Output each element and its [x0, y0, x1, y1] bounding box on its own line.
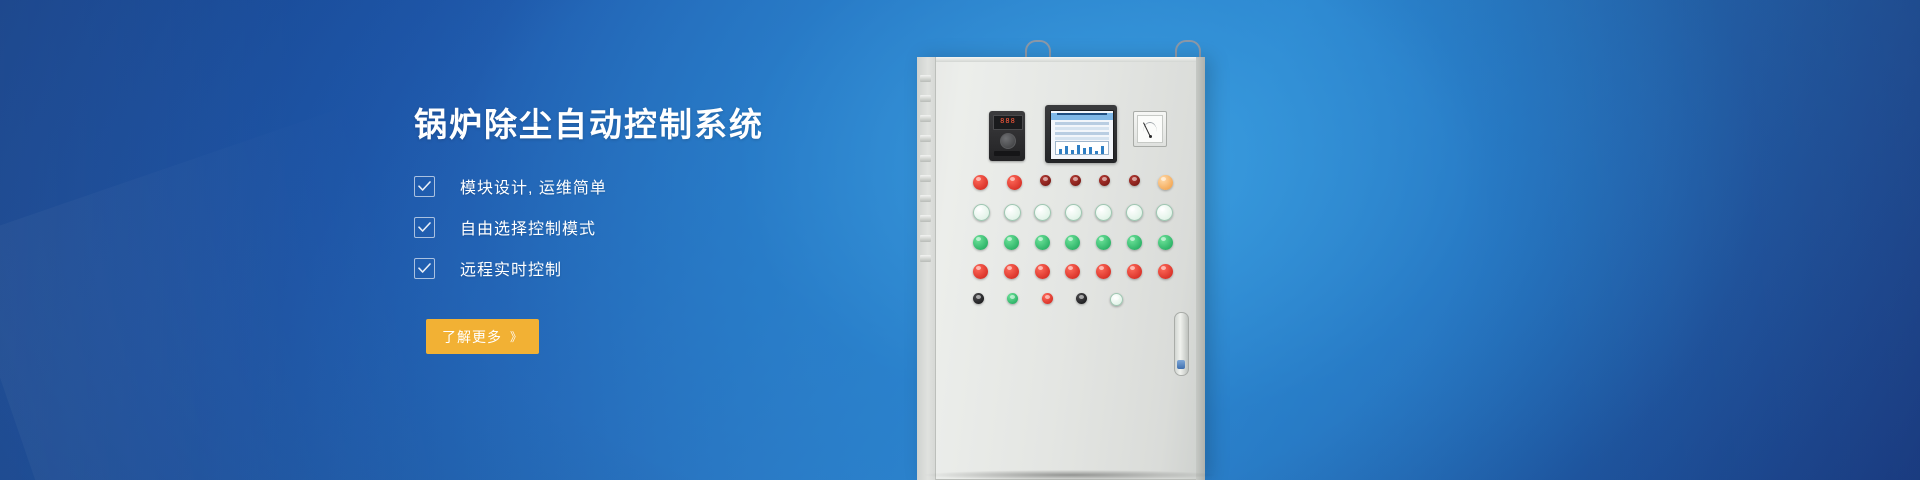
indicator-lamp-white[interactable]: [1065, 204, 1082, 221]
hmi-screen: [1050, 110, 1114, 160]
indicator-lamp-white[interactable]: [1004, 204, 1021, 221]
indicator-lamp-red[interactable]: [1158, 264, 1173, 279]
cabinet-hinge-strip: [917, 57, 936, 480]
hinge: [920, 195, 931, 202]
indicator-lamp-grid: [973, 175, 1173, 320]
learn-more-label: 了解更多: [442, 327, 502, 347]
check-icon: [414, 176, 435, 197]
indicator-lamp-red-dark[interactable]: [1099, 175, 1110, 186]
hinge: [920, 155, 931, 162]
indicator-lamp-red-dark[interactable]: [1129, 175, 1140, 186]
lamp-row: [973, 293, 1123, 306]
indicator-lamp-white[interactable]: [1095, 204, 1112, 221]
gauge-face: [1137, 115, 1163, 143]
hmi-row: [1055, 132, 1109, 135]
feature-label: 远程实时控制: [460, 256, 562, 280]
hinge: [920, 135, 931, 142]
push-button-black[interactable]: [1076, 293, 1087, 304]
learn-more-button[interactable]: 了解更多 》: [426, 319, 539, 354]
chevron-right-icon: 》: [510, 328, 523, 345]
check-icon: [414, 258, 435, 279]
controller-strip: [994, 151, 1020, 156]
cabinet-top-bevel: [917, 57, 1205, 62]
feature-label: 模块设计, 运维简单: [460, 174, 607, 198]
push-button-black[interactable]: [973, 293, 984, 304]
digital-controller[interactable]: 888: [989, 111, 1025, 161]
lamp-row: [973, 204, 1173, 221]
indicator-lamp-white[interactable]: [1126, 204, 1143, 221]
controller-display: 888: [993, 115, 1023, 130]
hinge: [920, 115, 931, 122]
indicator-lamp-red[interactable]: [1096, 264, 1111, 279]
indicator-lamp-red-dark[interactable]: [1070, 175, 1081, 186]
hinge: [920, 235, 931, 242]
list-item: 远程实时控制: [414, 256, 934, 280]
hmi-titlebar: [1051, 113, 1113, 120]
indicator-lamp-red[interactable]: [1127, 264, 1142, 279]
list-item: 自由选择控制模式: [414, 215, 934, 239]
hmi-row: [1055, 122, 1109, 125]
indicator-lamp-red[interactable]: [1007, 175, 1022, 190]
lamp-row: [973, 235, 1173, 250]
lamp-row: [973, 264, 1173, 279]
controller-knob-icon[interactable]: [1000, 133, 1016, 149]
indicator-lamp-white[interactable]: [973, 204, 990, 221]
product-photo: 888: [905, 0, 1465, 480]
indicator-lamp-white[interactable]: [1156, 204, 1173, 221]
indicator-lamp-red[interactable]: [973, 175, 988, 190]
gauge-pivot: [1149, 135, 1152, 138]
lock-icon[interactable]: [1177, 360, 1185, 369]
push-button-white[interactable]: [1110, 293, 1123, 306]
indicator-lamp-green[interactable]: [1065, 235, 1080, 250]
feature-label: 自由选择控制模式: [460, 215, 596, 239]
indicator-lamp-red[interactable]: [1035, 264, 1050, 279]
hinge: [920, 175, 931, 182]
indicator-lamp-green[interactable]: [973, 235, 988, 250]
controller-value: 888: [994, 116, 1022, 127]
indicator-lamp-red-dark[interactable]: [1040, 175, 1051, 186]
cabinet-shadow: [925, 470, 1215, 480]
push-button-green[interactable]: [1007, 293, 1018, 304]
indicator-lamp-green[interactable]: [1004, 235, 1019, 250]
hinge: [920, 75, 931, 82]
analog-gauge: [1133, 111, 1167, 147]
indicator-lamp-green[interactable]: [1096, 235, 1111, 250]
control-cabinet: 888: [917, 57, 1205, 480]
hmi-touchscreen[interactable]: [1045, 105, 1117, 163]
hero-banner: 锅炉除尘自动控制系统 模块设计, 运维简单 自由选择控制模式: [0, 0, 1920, 480]
indicator-lamp-red[interactable]: [1004, 264, 1019, 279]
indicator-lamp-white[interactable]: [1034, 204, 1051, 221]
indicator-lamp-green[interactable]: [1035, 235, 1050, 250]
hmi-row: [1055, 127, 1109, 130]
indicator-lamp-red[interactable]: [973, 264, 988, 279]
hmi-chart: [1055, 141, 1109, 155]
cabinet-door-handle[interactable]: [1174, 312, 1189, 376]
list-item: 模块设计, 运维简单: [414, 174, 934, 198]
hinge: [920, 255, 931, 262]
hmi-row: [1055, 137, 1109, 140]
hero-copy: 锅炉除尘自动控制系统 模块设计, 运维简单 自由选择控制模式: [414, 104, 934, 354]
indicator-lamp-green[interactable]: [1158, 235, 1173, 250]
page-title: 锅炉除尘自动控制系统: [414, 104, 934, 145]
hinge: [920, 95, 931, 102]
check-icon: [414, 217, 435, 238]
indicator-lamp-amber[interactable]: [1158, 175, 1173, 190]
indicator-lamp-red[interactable]: [1065, 264, 1080, 279]
push-button-red[interactable]: [1042, 293, 1053, 304]
indicator-lamp-green[interactable]: [1127, 235, 1142, 250]
cabinet-door-edge: [1196, 57, 1205, 480]
feature-list: 模块设计, 运维简单 自由选择控制模式 远程实时控制: [414, 174, 934, 280]
hinge: [920, 215, 931, 222]
lamp-row: [973, 175, 1173, 190]
